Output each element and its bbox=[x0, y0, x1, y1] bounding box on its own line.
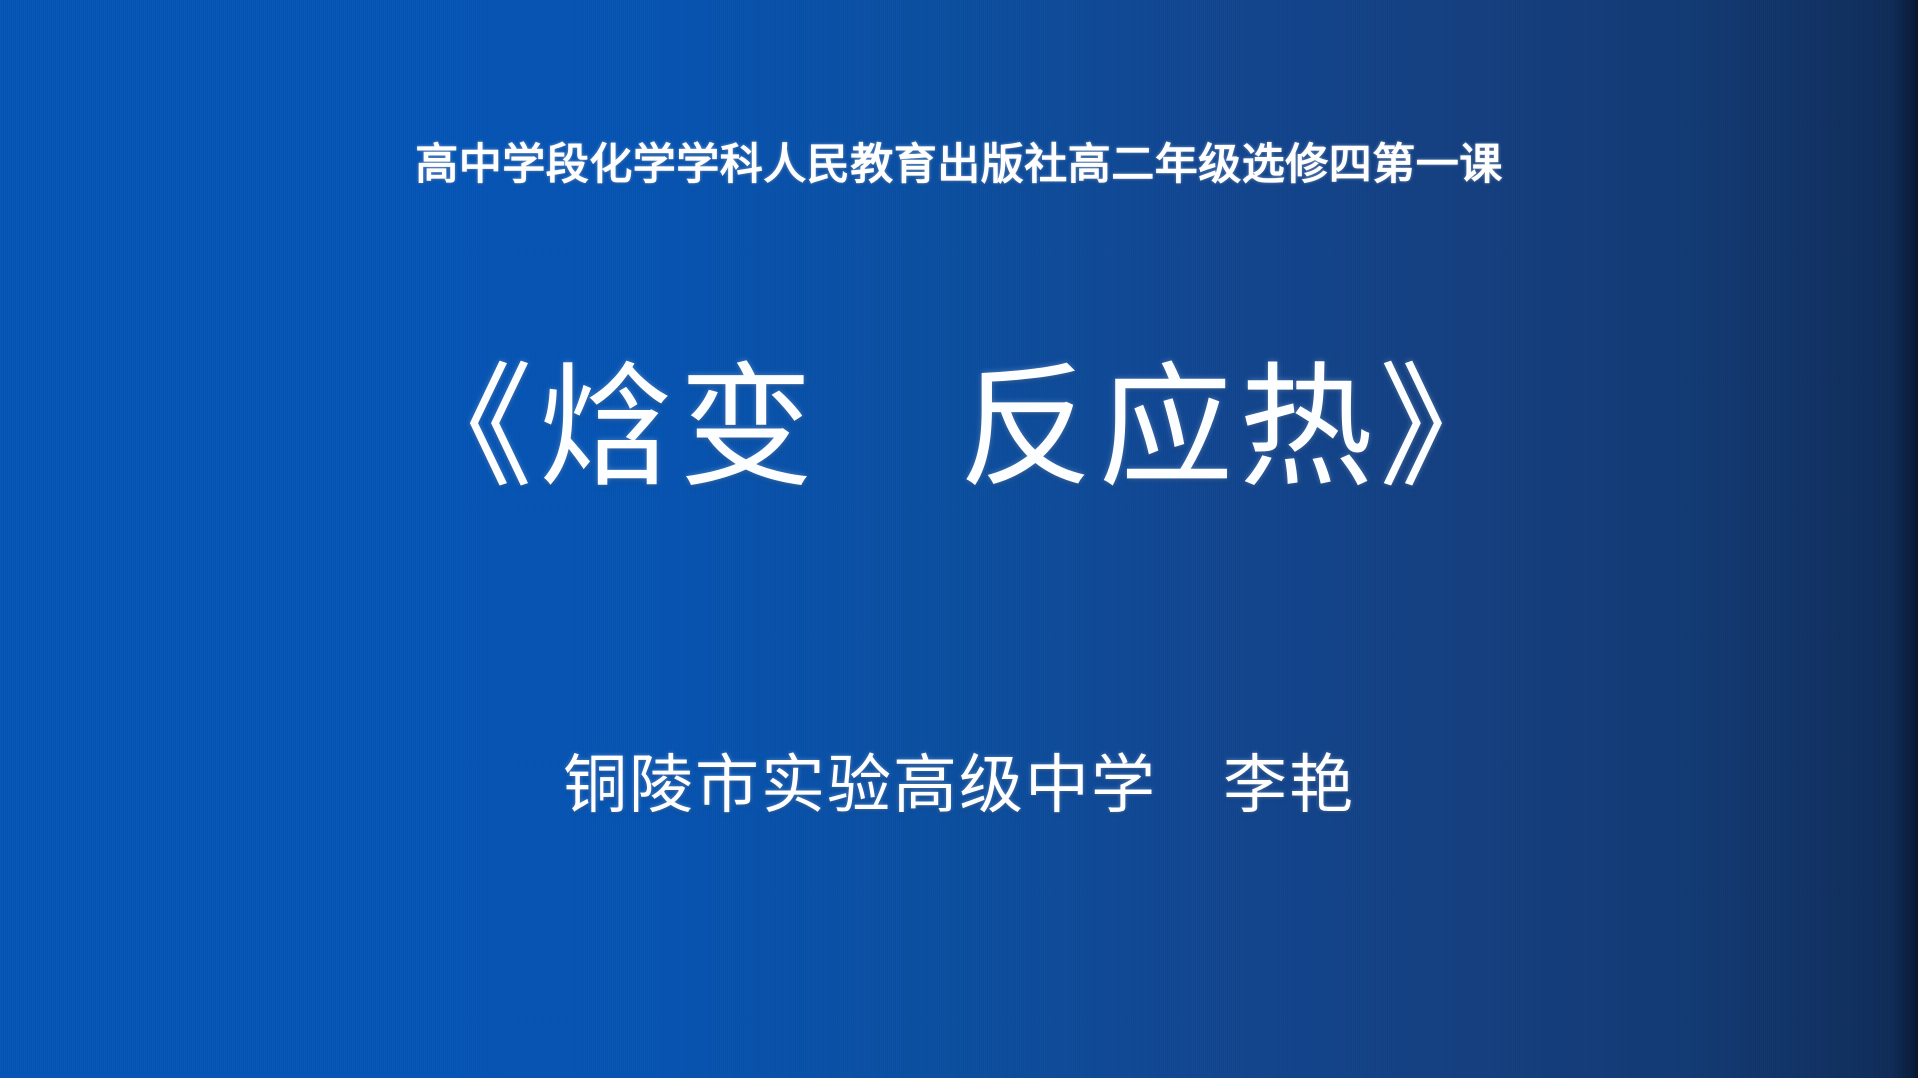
slide-text-stack: 高中学段化学学科人民教育出版社高二年级选修四第一课 《焓变 反应热》 铜陵市实验… bbox=[0, 0, 1918, 1078]
course-subtitle: 高中学段化学学科人民教育出版社高二年级选修四第一课 bbox=[0, 141, 1918, 189]
presentation-slide: 高中学段化学学科人民教育出版社高二年级选修四第一课 《焓变 反应热》 铜陵市实验… bbox=[0, 0, 1918, 1078]
presenter-affiliation-line: 铜陵市实验高级中学 李艳 bbox=[0, 747, 1918, 824]
lesson-title: 《焓变 反应热》 bbox=[0, 344, 1918, 516]
